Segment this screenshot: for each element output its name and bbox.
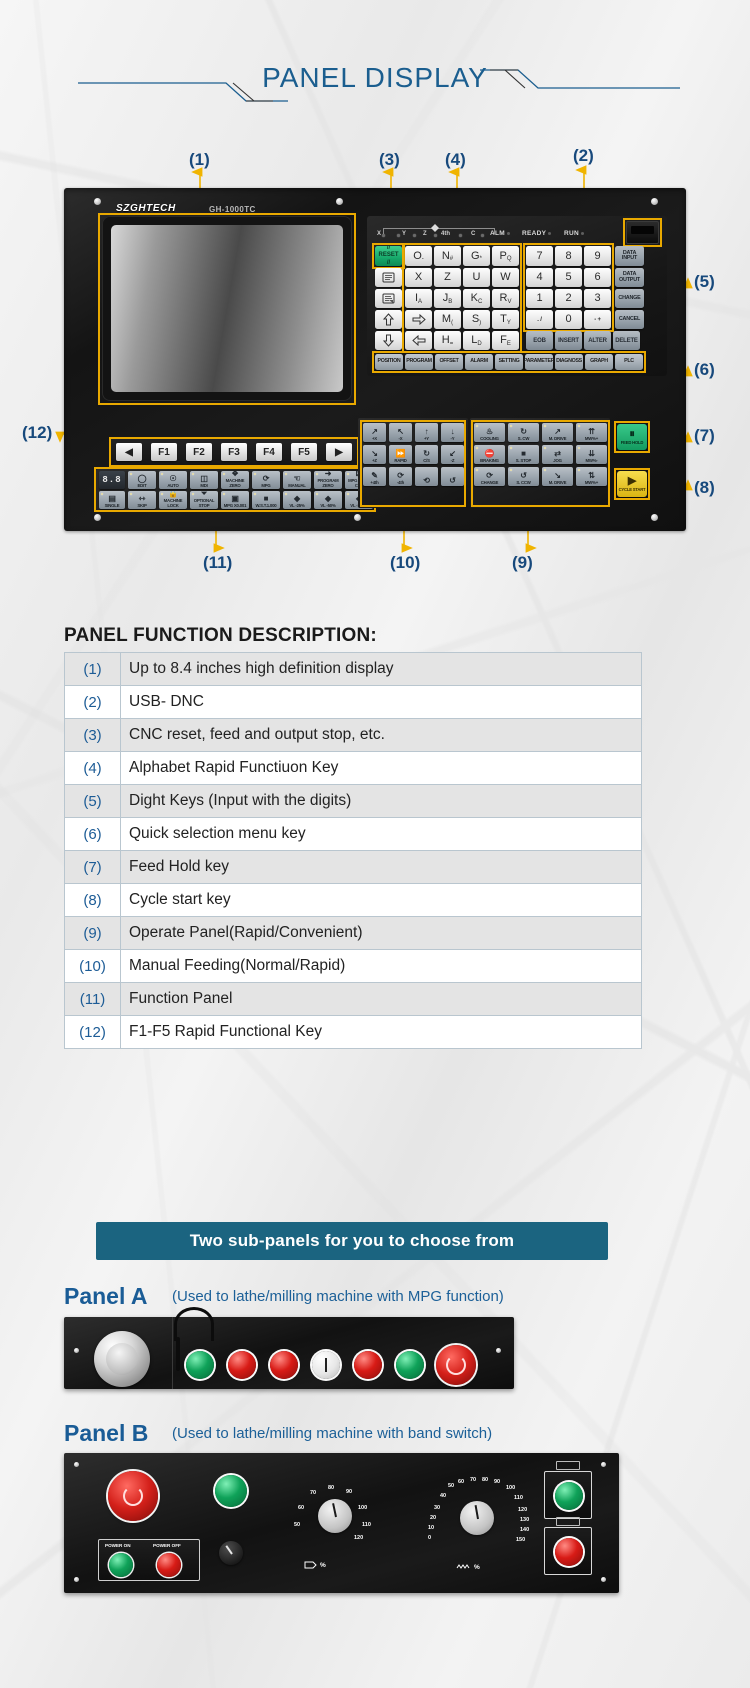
callout-1: (1) (189, 150, 210, 170)
feedkey-cs[interactable]: ↻C/S (415, 445, 438, 464)
row-text: USB- DNC (121, 686, 642, 719)
feed-icon (304, 1561, 318, 1569)
cnc-control-panel: SZGHTECH GH-1000TC X Y Z 4th C ALM READY… (64, 188, 686, 531)
fkey-next[interactable]: ▶ (326, 443, 352, 461)
key-J[interactable]: JB (434, 289, 461, 308)
axis-label-z: Z (423, 231, 427, 237)
screw-icon (651, 198, 658, 205)
fnkey-manual[interactable]: ☜MANUAL (283, 471, 311, 489)
screw-icon (336, 198, 343, 205)
opkey-override-plus-1[interactable]: ⇈MW%+ (576, 423, 607, 442)
row-text: Manual Feeding(Normal/Rapid) (121, 950, 642, 983)
callout-9: (9) (512, 553, 533, 573)
arrow-right-icon[interactable] (405, 310, 432, 329)
feedkey-plus-4th[interactable]: ✎+4th (363, 467, 386, 486)
key-4[interactable]: 4 (526, 268, 553, 287)
table-row: (12)F1-F5 Rapid Functional Key (65, 1016, 642, 1049)
feed-override-dial[interactable] (318, 1499, 352, 1533)
key-data-input[interactable]: DATA INPUT (615, 246, 644, 266)
gauge2-tick-80: 80 (482, 1477, 488, 1483)
gauge1-tick-90: 90 (346, 1489, 352, 1495)
feedkey-minus-4th[interactable]: ⟳-4th (389, 467, 412, 486)
feedkey-minus-x[interactable]: ↖-X (389, 423, 412, 442)
key-X[interactable]: X (405, 268, 432, 287)
panel-a-button-red-2[interactable] (270, 1351, 298, 1379)
key-N[interactable]: N# (434, 246, 461, 266)
cycle-start-button[interactable]: ▶CYCLE START (617, 471, 647, 497)
key-alter[interactable]: ALTER (584, 331, 611, 350)
table-row: (8)Cycle start key (65, 884, 642, 917)
arrow-up-icon[interactable] (375, 310, 402, 329)
opkey-spindle-cw[interactable]: ↻S. CW (508, 423, 539, 442)
callout-6: (6) (694, 360, 715, 380)
callout-2: (2) (573, 146, 594, 166)
power-button-group: POWER ON POWER OFF (98, 1539, 200, 1581)
panel-b-selector-knob[interactable] (219, 1541, 243, 1565)
screw-icon (94, 198, 101, 205)
gauge2-tick-30: 30 (434, 1505, 440, 1511)
fkey-f1[interactable]: F1 (151, 443, 177, 461)
key-7[interactable]: 7 (526, 246, 553, 266)
gauge2-tick-0: 0 (428, 1535, 431, 1541)
callout-3: (3) (379, 150, 400, 170)
fkey-prev[interactable]: ◀ (116, 443, 142, 461)
key-P[interactable]: PQ (492, 246, 519, 266)
screw-icon (601, 1577, 606, 1582)
description-heading: PANEL FUNCTION DESCRIPTION: (64, 625, 377, 647)
row-number: (2) (65, 686, 121, 719)
key-S[interactable]: S) (463, 310, 490, 329)
softkey-position[interactable]: POSITION (375, 354, 403, 370)
emergency-stop-button[interactable] (436, 1345, 476, 1385)
status-alm: ALM (490, 230, 510, 237)
row-text: Dight Keys (Input with the digits) (121, 785, 642, 818)
arrow-left-icon[interactable] (405, 331, 432, 350)
gauge1-tick-100: 100 (358, 1505, 367, 1511)
mpg-cable (174, 1307, 214, 1341)
tool-number-display: 8.8 (99, 471, 125, 489)
fkey-f2[interactable]: F2 (186, 443, 212, 461)
row-number: (6) (65, 818, 121, 851)
fnkey-override-50[interactable]: ◆VL -50% (314, 491, 342, 509)
gauge2-tick-50: 50 (448, 1483, 454, 1489)
softkey-setting[interactable]: SETTING (495, 354, 523, 370)
key-Z[interactable]: Z (434, 268, 461, 287)
key-6[interactable]: 6 (584, 268, 611, 287)
opkey-override-plus-2[interactable]: ⇅MW%+ (576, 467, 607, 486)
screw-icon (94, 514, 101, 521)
usb-dnc-port[interactable] (626, 221, 659, 244)
row-number: (9) (65, 917, 121, 950)
feedkey-minus-z[interactable]: ↙-Z (441, 445, 464, 464)
axis-label-y: Y (402, 231, 406, 237)
power-off-button[interactable] (157, 1553, 181, 1577)
status-ready: READY (522, 230, 551, 237)
gauge1-tick-70: 70 (310, 1490, 316, 1496)
screw-icon (601, 1462, 606, 1467)
key-dot-slash[interactable]: . / (526, 310, 553, 329)
callout-8: (8) (694, 478, 715, 498)
power-off-label: POWER OFF (153, 1543, 181, 1548)
key-1[interactable]: 1 (526, 289, 553, 308)
model-number: GH-1000TC (209, 205, 256, 214)
screw-icon (496, 1348, 501, 1353)
lcd-screen (111, 225, 343, 392)
opkey-override-minus-1[interactable]: ⇊MW%- (576, 445, 607, 464)
row-number: (4) (65, 752, 121, 785)
fkey-f5[interactable]: F5 (291, 443, 317, 461)
gauge-spindle-override: 60 70 80 90 50 100 40 110 30 120 20 130 … (426, 1479, 534, 1553)
softkey-diagnoss[interactable]: DIAGNOSS (555, 354, 583, 370)
fnkey-mpg[interactable]: ⟳MPG (252, 471, 280, 489)
feedkey-minus-y[interactable]: ↓-Y (441, 423, 464, 442)
gauge2-tick-100: 100 (506, 1485, 515, 1491)
gauge2-tick-150: 150 (516, 1537, 525, 1543)
key-9[interactable]: 9 (584, 246, 611, 266)
power-on-label: POWER ON (105, 1543, 131, 1548)
opkey-braking[interactable]: ⛔BRAKING (474, 445, 505, 464)
softkey-alarm[interactable]: ALARM (465, 354, 493, 370)
key-cancel[interactable]: CANCEL (615, 310, 644, 329)
feedkey-aux-2[interactable]: ↺ (441, 467, 464, 486)
gauge1-tick-80: 80 (328, 1485, 334, 1491)
key-5[interactable]: 5 (555, 268, 582, 287)
status-run: RUN (564, 230, 584, 237)
table-row: (10)Manual Feeding(Normal/Rapid) (65, 950, 642, 983)
table-row: (2)USB- DNC (65, 686, 642, 719)
subpanel-ribbon: Two sub-panels for you to choose from (96, 1222, 608, 1260)
table-row: (1)Up to 8.4 inches high definition disp… (65, 653, 642, 686)
row-number: (8) (65, 884, 121, 917)
spindle-icon (456, 1563, 472, 1571)
key-change[interactable]: CHANGE (615, 289, 644, 308)
key-K[interactable]: KC (463, 289, 490, 308)
power-on-button[interactable] (109, 1553, 133, 1577)
row-number: (7) (65, 851, 121, 884)
axis-label-x: X (377, 231, 381, 237)
key-O[interactable]: O- (405, 246, 432, 266)
key-L[interactable]: LD (463, 331, 490, 350)
key-2[interactable]: 2 (555, 289, 582, 308)
axis-label-4th: 4th (441, 231, 450, 237)
feedkey-aux-1[interactable]: ⟲ (415, 467, 438, 486)
fkey-f4[interactable]: F4 (256, 443, 282, 461)
page-title-block: PANEL DISPLAY (0, 58, 750, 120)
row-number: (5) (65, 785, 121, 818)
gauge2-tick-120: 120 (518, 1507, 527, 1513)
opkey-spindle-ccw[interactable]: ↺S. CCW (508, 467, 539, 486)
fnkey-mdi[interactable]: ◫MDI (190, 471, 218, 489)
screw-icon (74, 1577, 79, 1582)
indicator-icon-top (556, 1461, 580, 1470)
table-row: (5)Dight Keys (Input with the digits) (65, 785, 642, 818)
key-U[interactable]: U (463, 268, 490, 287)
fkey-f3[interactable]: F3 (221, 443, 247, 461)
panel-divider (172, 1317, 173, 1389)
panel-a-button-green-2[interactable] (396, 1351, 424, 1379)
axis-label-c: C (471, 231, 475, 237)
fnkey-mpg-x0001[interactable]: ▣MPG X0.001 (221, 491, 249, 509)
panel-b-button-box-top (544, 1471, 592, 1519)
gauge2-unit-label: % (456, 1563, 480, 1571)
row-text: CNC reset, feed and output stop, etc. (121, 719, 642, 752)
gauge1-unit-label: % (304, 1561, 326, 1569)
table-row: (6)Quick selection menu key (65, 818, 642, 851)
feedkey-plus-z[interactable]: ↘+Z (363, 445, 386, 464)
fnkey-machine-zero[interactable]: ❖MACHINE ZERO (221, 471, 249, 489)
gauge2-tick-40: 40 (440, 1493, 446, 1499)
row-text: Up to 8.4 inches high definition display (121, 653, 642, 686)
callout-7: (7) (694, 426, 715, 446)
page-down-icon[interactable] (375, 289, 402, 308)
gauge2-tick-20: 20 (430, 1515, 436, 1521)
lcd-display[interactable] (102, 216, 352, 401)
mpg-handwheel[interactable] (94, 1331, 150, 1387)
panel-a-subtitle: (Used to lathe/milling machine with MPG … (172, 1288, 504, 1305)
panel-b-button-box-bottom (544, 1527, 592, 1575)
row-number: (3) (65, 719, 121, 752)
callout-5: (5) (694, 272, 715, 292)
fnkey-program-zero[interactable]: ➜PROGRAM ZERO (314, 471, 342, 489)
key-eob[interactable]: EOB (526, 331, 553, 350)
callout-12: (12) (22, 423, 52, 443)
key-insert[interactable]: INSERT (555, 331, 582, 350)
table-row: (7)Feed Hold key (65, 851, 642, 884)
panel-b-hardware: POWER ON POWER OFF 80 90 70 60 100 50 11… (64, 1453, 619, 1593)
callout-4: (4) (445, 150, 466, 170)
indicator-icon-bottom (556, 1517, 580, 1526)
gauge2-tick-70: 70 (470, 1477, 476, 1483)
panel-b-start-button[interactable] (555, 1482, 583, 1510)
key-data-output[interactable]: DATA OUTPUT (615, 268, 644, 287)
row-number: (1) (65, 653, 121, 686)
fnkey-machine-lock[interactable]: 🔒MACHINE LOCK (159, 491, 187, 509)
panel-b-emergency-stop[interactable] (108, 1471, 158, 1521)
key-M[interactable]: M( (434, 310, 461, 329)
feedkey-plus-y[interactable]: ↑+Y (415, 423, 438, 442)
table-row: (4)Alphabet Rapid Functiuon Key (65, 752, 642, 785)
panel-a-button-green-1[interactable] (186, 1351, 214, 1379)
row-number: (11) (65, 983, 121, 1016)
screw-icon (74, 1462, 79, 1467)
page-up-icon[interactable] (375, 268, 402, 287)
feedkey-rapid[interactable]: ⏩RAPID (389, 445, 412, 464)
softkey-graph[interactable]: GRAPH (585, 354, 613, 370)
panel-a-title: Panel A (64, 1283, 148, 1310)
table-row: (9)Operate Panel(Rapid/Convenient) (65, 917, 642, 950)
key-minus-plus[interactable]: - + (584, 310, 611, 329)
softkey-parameter[interactable]: PARAMETER (525, 354, 553, 370)
opkey-jog[interactable]: ⇄JOG (542, 445, 573, 464)
row-text: Quick selection menu key (121, 818, 642, 851)
gauge1-tick-120: 120 (354, 1535, 363, 1541)
fnkey-single-block[interactable]: ▤SINGLE (99, 491, 125, 509)
gauge2-tick-140: 140 (520, 1527, 529, 1533)
row-number: (12) (65, 1016, 121, 1049)
fnkey-block-skip[interactable]: ⇿SKIP (128, 491, 156, 509)
gauge2-tick-110: 110 (514, 1495, 523, 1501)
gauge2-tick-10: 10 (428, 1525, 434, 1531)
gauge-feed-override: 80 90 70 60 100 50 110 120 (292, 1485, 378, 1551)
panel-a-button-white[interactable] (312, 1351, 340, 1379)
panel-function-table: (1)Up to 8.4 inches high definition disp… (64, 652, 642, 1049)
opkey-change[interactable]: ⟳CHANGE (474, 467, 505, 486)
key-0[interactable]: 0 (555, 310, 582, 329)
panel-b-green-button[interactable] (215, 1475, 247, 1507)
row-text: Alphabet Rapid Functiuon Key (121, 752, 642, 785)
softkey-offset[interactable]: OFFSET (435, 354, 463, 370)
brand-logo: SZGHTECH (116, 203, 176, 214)
screw-icon (651, 514, 658, 521)
panel-b-title: Panel B (64, 1420, 148, 1447)
gauge1-tick-50: 50 (294, 1522, 300, 1528)
row-text: Feed Hold key (121, 851, 642, 884)
screw-icon (74, 1348, 79, 1353)
row-number: (10) (65, 950, 121, 983)
feed-hold-button[interactable]: ⏸FEED HOLD (617, 424, 647, 450)
row-text: F1-F5 Rapid Functional Key (121, 1016, 642, 1049)
reset-key[interactable]: // RESET // (375, 246, 402, 266)
fnkey-auto[interactable]: ☉AUTO (159, 471, 187, 489)
panel-b-stop-button[interactable] (555, 1538, 583, 1566)
fnkey-optional-stop[interactable]: ⏷OPTIONAL STOP (190, 491, 218, 509)
gauge1-tick-110: 110 (362, 1522, 371, 1528)
softkey-plc[interactable]: PLC (615, 354, 643, 370)
feedkey-plus-x[interactable]: ↗+X (363, 423, 386, 442)
key-I[interactable]: IA (405, 289, 432, 308)
key-H[interactable]: H= (434, 331, 461, 350)
row-text: Cycle start key (121, 884, 642, 917)
key-R[interactable]: RV (492, 289, 519, 308)
row-text: Function Panel (121, 983, 642, 1016)
fnkey-override-25[interactable]: ◆VL -25% (283, 491, 311, 509)
row-text: Operate Panel(Rapid/Convenient) (121, 917, 642, 950)
panel-a-button-red-3[interactable] (354, 1351, 382, 1379)
key-W[interactable]: W (492, 268, 519, 287)
screw-icon (354, 514, 361, 521)
key-F[interactable]: FE (492, 331, 519, 350)
mpg-cable-tail (176, 1337, 180, 1371)
key-G[interactable]: G* (463, 246, 490, 266)
callout-10: (10) (390, 553, 420, 573)
key-delete[interactable]: DELETE (613, 331, 640, 350)
arrow-down-icon[interactable] (375, 331, 402, 350)
softkey-program[interactable]: PROGRAM (405, 354, 433, 370)
callout-11: (11) (203, 553, 232, 573)
panel-a-button-red-1[interactable] (228, 1351, 256, 1379)
panel-a-hardware (64, 1317, 514, 1389)
axis-indicator-strip: X Y Z 4th C (377, 226, 507, 240)
key-8[interactable]: 8 (555, 246, 582, 266)
opkey-spindle-stop[interactable]: ■S. STOP (508, 445, 539, 464)
key-3[interactable]: 3 (584, 289, 611, 308)
opkey-mdrive-1[interactable]: ↗M. DRIVE (542, 423, 573, 442)
fnkey-wst[interactable]: ■W.S.T.1.000 (252, 491, 280, 509)
table-row: (3)CNC reset, feed and output stop, etc. (65, 719, 642, 752)
gauge1-tick-60: 60 (298, 1505, 304, 1511)
gauge2-tick-130: 130 (520, 1517, 529, 1523)
opkey-cooling[interactable]: ♨COOLING (474, 423, 505, 442)
gauge2-tick-90: 90 (494, 1479, 500, 1485)
bar-icon (325, 1358, 328, 1372)
fnkey-edit[interactable]: ◯EDIT (128, 471, 156, 489)
panel-b-subtitle: (Used to lathe/milling machine with band… (172, 1425, 492, 1442)
opkey-mdrive-2[interactable]: ↘M. DRIVE (542, 467, 573, 486)
title-rule-right (480, 66, 680, 88)
key-T[interactable]: TY (492, 310, 519, 329)
spindle-override-dial[interactable] (460, 1501, 494, 1535)
gauge2-tick-60: 60 (458, 1479, 464, 1485)
table-row: (11)Function Panel (65, 983, 642, 1016)
